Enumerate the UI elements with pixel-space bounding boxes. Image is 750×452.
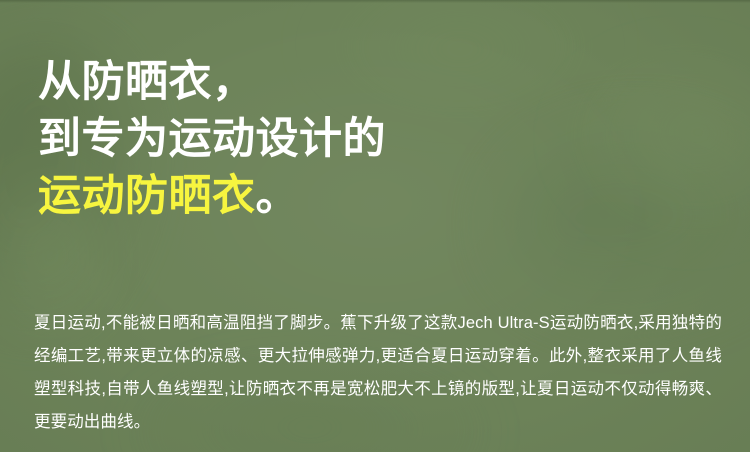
foliage-texture-right-upper	[560, 60, 750, 240]
headline-line-3-text: 运动防晒衣	[38, 172, 256, 220]
foliage-texture-right-mid	[500, 120, 750, 330]
product-banner: 从防晒衣， 到专为运动设计的 运动防晒衣。 夏日运动,不能被日晒和高温阻挡了脚步…	[0, 0, 750, 452]
headline-line-3: 运动防晒衣。	[38, 168, 386, 225]
headline-line-2: 到专为运动设计的	[38, 111, 386, 168]
headline-line-3-punctuation: 。	[256, 172, 300, 220]
product-description-paragraph: 夏日运动,不能被日晒和高温阻挡了脚步。蕉下升级了这款Jech Ultra-S运动…	[34, 307, 722, 439]
top-edge-shadow	[0, 0, 750, 3]
headline-block: 从防晒衣， 到专为运动设计的 运动防晒衣。	[38, 54, 386, 225]
headline-line-1: 从防晒衣，	[38, 54, 386, 111]
